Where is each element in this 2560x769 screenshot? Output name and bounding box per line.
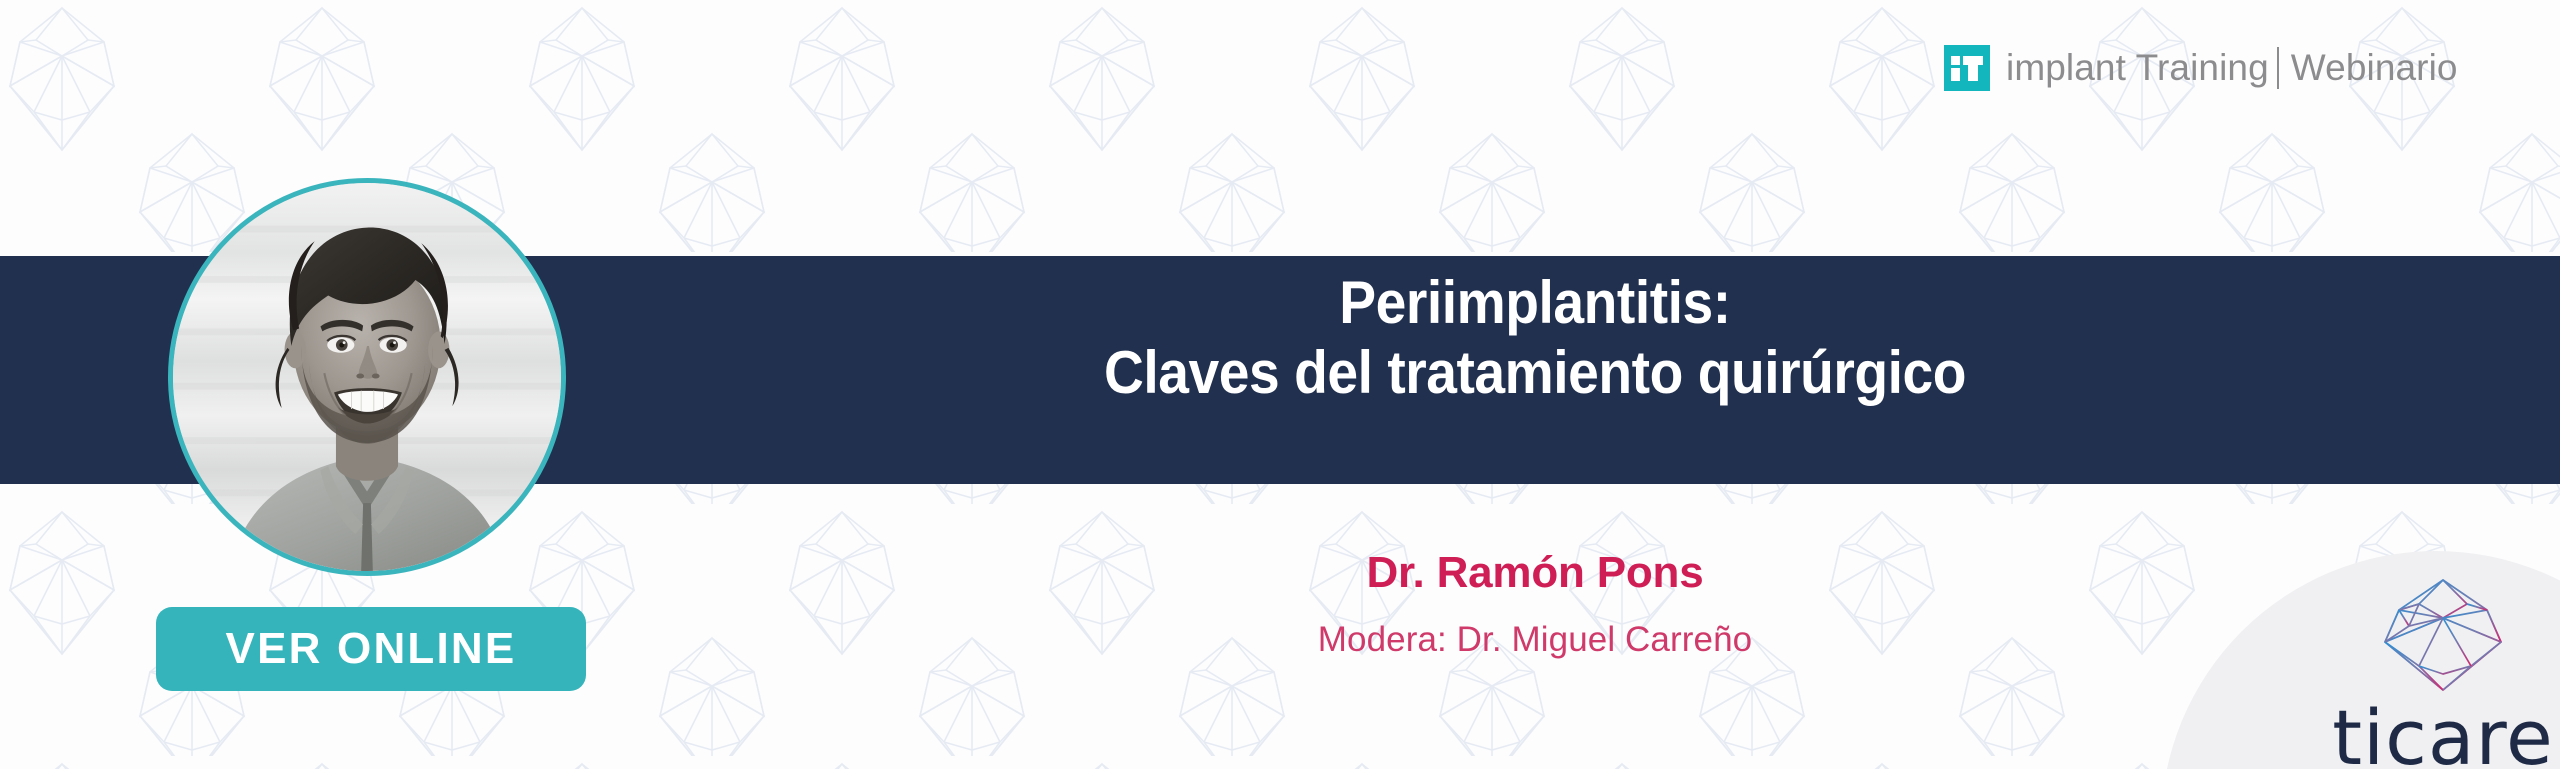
webinar-banner: implant TrainingWebinario Periimplantiti… bbox=[0, 0, 2560, 769]
ticare-wordmark: ticare bbox=[2283, 700, 2560, 769]
speaker-photo bbox=[173, 183, 561, 571]
implant-training-logo-icon bbox=[1944, 45, 1990, 91]
avatar bbox=[168, 178, 566, 576]
ver-online-button[interactable]: VER ONLINE bbox=[156, 607, 586, 691]
brand-name: implant Training bbox=[2006, 47, 2269, 88]
ticare-heart-icon bbox=[2375, 570, 2511, 696]
brand-text: implant TrainingWebinario bbox=[2006, 47, 2458, 89]
title-line-2: Claves del tratamiento quirúrgico bbox=[675, 338, 2395, 408]
brand-section: Webinario bbox=[2291, 47, 2458, 88]
brand-lockup: implant TrainingWebinario bbox=[1944, 44, 2458, 92]
title-line-1: Periimplantitis: bbox=[675, 268, 2395, 338]
brand-divider bbox=[2277, 47, 2279, 89]
ticare-logo: ticare bbox=[2283, 570, 2560, 769]
page-title: Periimplantitis: Claves del tratamiento … bbox=[675, 268, 2395, 408]
moderator-name: Modera: Dr. Miguel Carreño bbox=[600, 620, 2470, 660]
speaker-name: Dr. Ramón Pons bbox=[600, 548, 2470, 598]
